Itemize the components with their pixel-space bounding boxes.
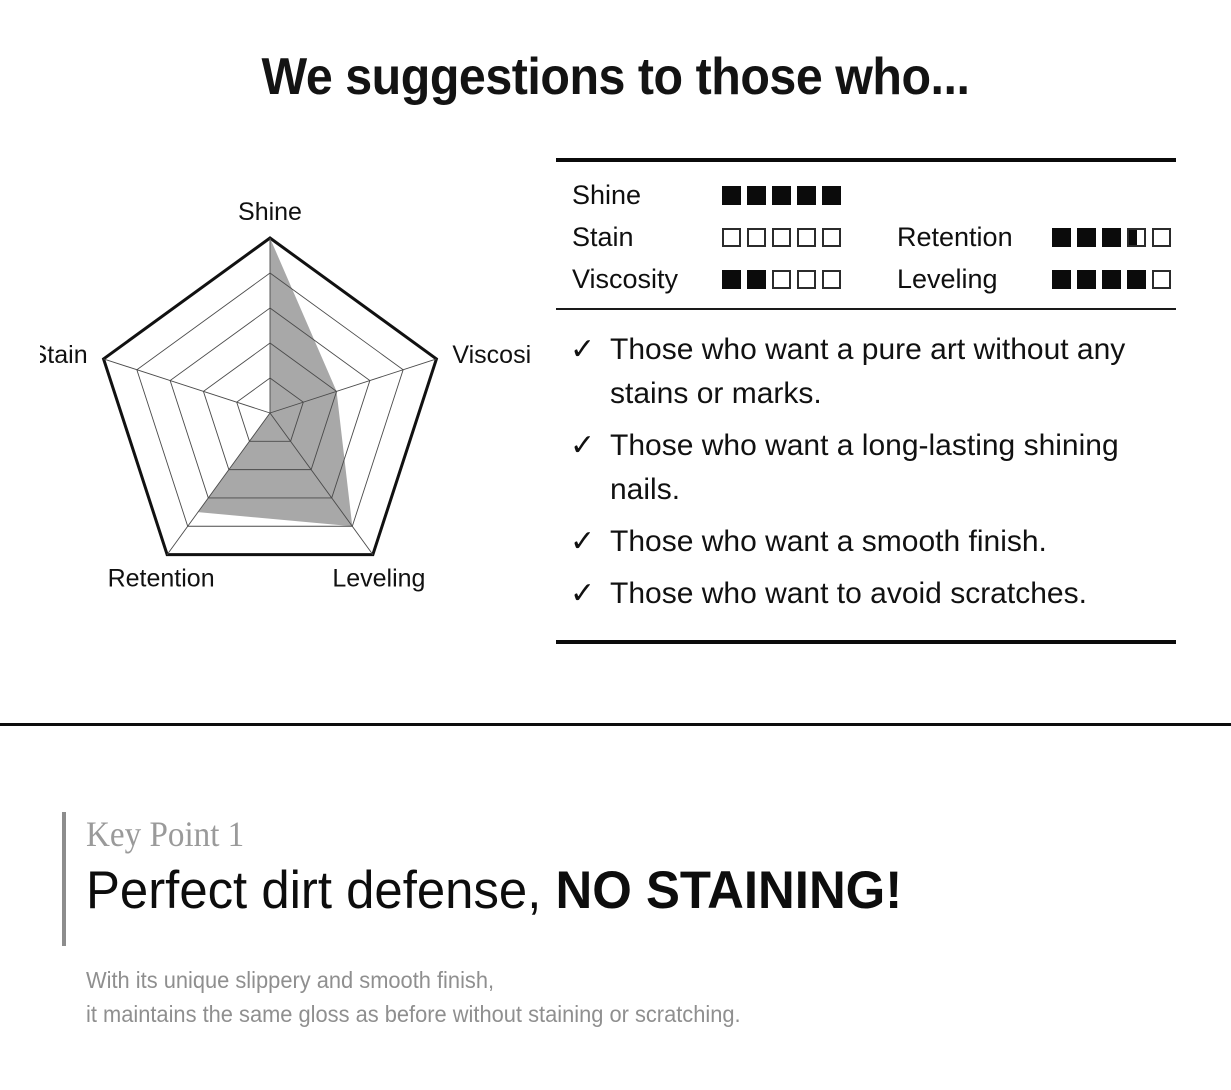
radar-axis-label-viscosity: Viscosity: [452, 341, 530, 369]
rating-square: [747, 228, 766, 247]
rating-label-retention: Retention: [897, 218, 1052, 256]
rating-label-shine: Shine: [572, 176, 722, 214]
checklist-item-text: Those who want to avoid scratches.: [610, 572, 1087, 616]
section-divider: [0, 723, 1231, 726]
radar-axis-label-shine: Shine: [238, 198, 302, 226]
list-item: ✓ Those who want a long-lasting shining …: [570, 424, 1176, 512]
key-point-subtext-line2: it maintains the same gloss as before wi…: [86, 997, 741, 1031]
rating-square: [797, 228, 816, 247]
rating-squares-shine: [722, 186, 897, 205]
rating-square: [722, 270, 741, 289]
key-point-eyebrow: Key Point 1: [86, 812, 1076, 856]
key-point-subtext-line1: With its unique slippery and smooth fini…: [86, 963, 741, 997]
rating-square: [1077, 228, 1096, 247]
rating-square: [1102, 270, 1121, 289]
rating-square: [822, 228, 841, 247]
list-item: ✓ Those who want to avoid scratches.: [570, 572, 1176, 616]
rating-square: [1152, 228, 1171, 247]
spec-panel: Shine Stain Retention Viscosity Leveling…: [556, 158, 1176, 644]
checklist: ✓ Those who want a pure art without any …: [556, 310, 1176, 640]
rating-label-leveling: Leveling: [897, 260, 1052, 298]
list-item: ✓ Those who want a smooth finish.: [570, 520, 1176, 564]
key-point-subtext: With its unique slippery and smooth fini…: [86, 963, 741, 1031]
rating-square: [1052, 270, 1071, 289]
key-point-block: Key Point 1 Perfect dirt defense, NO STA…: [62, 812, 1162, 924]
checklist-item-text: Those who want a smooth finish.: [610, 520, 1047, 564]
rating-square: [772, 228, 791, 247]
radar-axis-label-stain: Stain: [40, 341, 88, 369]
radar-axis-label-leveling: Leveling: [332, 565, 425, 593]
rating-label-viscosity: Viscosity: [572, 260, 722, 298]
page-title: We suggestions to those who...: [43, 47, 1188, 107]
check-icon: ✓: [570, 424, 596, 468]
key-point-body: Key Point 1 Perfect dirt defense, NO STA…: [62, 812, 1162, 924]
rating-label-stain: Stain: [572, 218, 722, 256]
radar-axis-label-retention: Retention: [108, 565, 215, 593]
page-root: We suggestions to those who... ShineVisc…: [0, 0, 1231, 1090]
key-point-headline-light: Perfect dirt defense,: [86, 861, 541, 920]
rating-square: [1127, 228, 1146, 247]
rating-squares-stain: [722, 228, 897, 247]
check-icon: ✓: [570, 520, 596, 564]
rating-square: [797, 270, 816, 289]
rating-square: [1077, 270, 1096, 289]
rating-square: [722, 186, 741, 205]
rating-squares-viscosity: [722, 270, 897, 289]
rating-square: [822, 186, 841, 205]
rating-square: [747, 186, 766, 205]
rating-square: [1102, 228, 1121, 247]
panel-bottom-rule: [556, 640, 1176, 644]
radar-chart: ShineViscosityLevelingRetentionStain: [40, 190, 530, 620]
ratings-table: Shine Stain Retention Viscosity Leveling: [556, 162, 1176, 308]
key-point-headline: Perfect dirt defense, NO STAINING!: [86, 858, 1119, 924]
rating-square: [1127, 270, 1146, 289]
check-icon: ✓: [570, 572, 596, 616]
radar-chart-svg: ShineViscosityLevelingRetentionStain: [40, 190, 530, 620]
rating-square: [822, 270, 841, 289]
checklist-item-text: Those who want a long-lasting shining na…: [610, 424, 1145, 512]
checklist-item-text: Those who want a pure art without any st…: [610, 328, 1145, 416]
rating-square: [797, 186, 816, 205]
rating-square: [772, 270, 791, 289]
key-point-accent-bar: [62, 812, 66, 946]
rating-square: [1152, 270, 1171, 289]
radar-spoke: [104, 359, 270, 413]
rating-squares-leveling: [1052, 270, 1192, 289]
check-icon: ✓: [570, 328, 596, 372]
rating-square: [772, 186, 791, 205]
list-item: ✓ Those who want a pure art without any …: [570, 328, 1176, 416]
rating-squares-retention: [1052, 228, 1192, 247]
rating-square: [1052, 228, 1071, 247]
key-point-headline-strong: NO STAINING!: [555, 861, 902, 920]
rating-square: [722, 228, 741, 247]
rating-square: [747, 270, 766, 289]
